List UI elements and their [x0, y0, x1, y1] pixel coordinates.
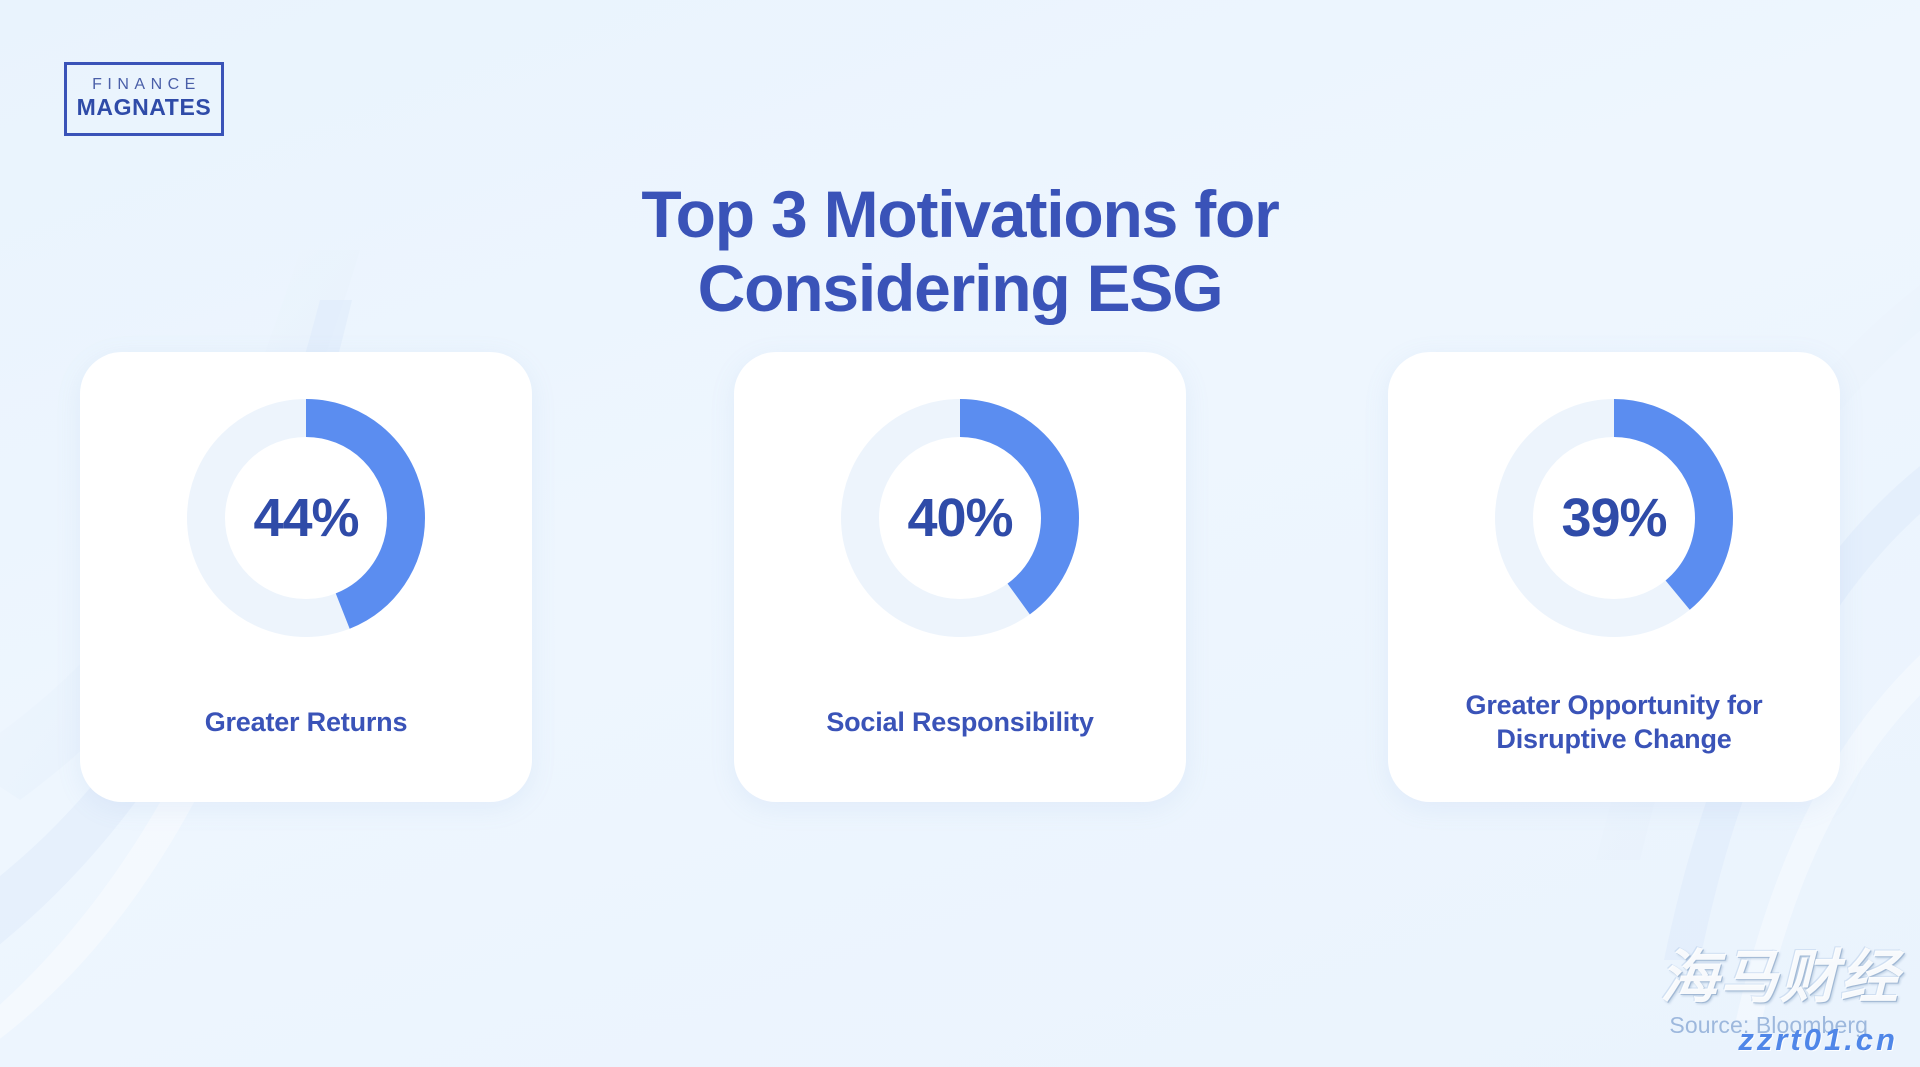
stat-card-label: Social Responsibility: [758, 705, 1162, 740]
page-title-line-1: Top 3 Motivations for: [0, 178, 1920, 252]
page-title-line-2: Considering ESG: [0, 252, 1920, 326]
donut-chart: 44%: [182, 394, 430, 642]
logo-line-finance: FINANCE: [87, 77, 201, 94]
stat-card-label-line-1: Social Responsibility: [758, 705, 1162, 740]
page-title: Top 3 Motivations for Considering ESG: [0, 178, 1920, 326]
source-attribution: Source: Bloomberg: [1669, 1012, 1868, 1039]
stat-card-label-line-1: Greater Returns: [104, 705, 508, 740]
stat-card-label-line-1: Greater Opportunity for: [1412, 688, 1816, 723]
stat-card: 44% Greater Returns: [80, 352, 532, 802]
donut-percent-label: 40%: [836, 394, 1084, 642]
stat-card: 39% Greater Opportunity for Disruptive C…: [1388, 352, 1840, 802]
stat-card-label: Greater Returns: [104, 705, 508, 740]
finance-magnates-logo: FINANCE MAGNATES: [64, 62, 224, 136]
stat-card: 40% Social Responsibility: [734, 352, 1186, 802]
logo-line-magnates: MAGNATES: [77, 94, 212, 120]
stat-card-group: 44% Greater Returns 40% Social Responsib…: [80, 352, 1840, 802]
donut-chart: 40%: [836, 394, 1084, 642]
donut-chart: 39%: [1490, 394, 1738, 642]
donut-percent-label: 44%: [182, 394, 430, 642]
donut-percent-label: 39%: [1490, 394, 1738, 642]
stat-card-label-line-2: Disruptive Change: [1412, 722, 1816, 757]
stat-card-label: Greater Opportunity for Disruptive Chang…: [1412, 688, 1816, 757]
